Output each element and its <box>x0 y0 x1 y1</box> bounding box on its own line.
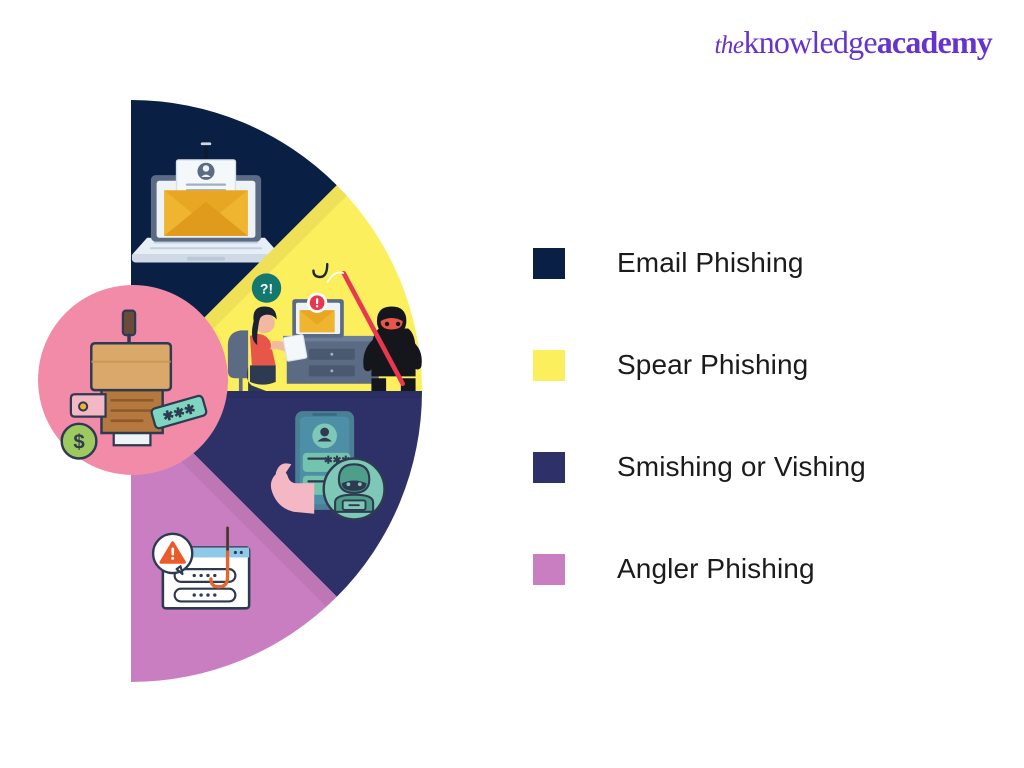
pie-chart-svg: ?! <box>0 0 520 768</box>
legend-swatch-angler-phishing <box>533 554 565 585</box>
legend-label-spear-phishing: Spear Phishing <box>617 349 808 381</box>
center-badge: ✱✱✱ $ <box>38 285 228 475</box>
legend-swatch-spear-phishing <box>533 350 565 381</box>
legend-item-email-phishing[interactable]: Email Phishing <box>533 212 973 314</box>
legend-label-email-phishing: Email Phishing <box>617 247 804 279</box>
logo-academy: academy <box>877 24 992 60</box>
logo-knowledge: knowledge <box>744 24 877 60</box>
legend-swatch-smishing-vishing <box>533 452 565 483</box>
legend-item-spear-phishing[interactable]: Spear Phishing <box>533 314 973 416</box>
pie-chart-area: ?! <box>0 0 520 768</box>
logo-the: the <box>714 32 743 59</box>
brand-logo: theknowledgeacademy <box>714 26 992 58</box>
legend-item-angler-phishing[interactable]: Angler Phishing <box>533 518 973 620</box>
svg-text:$: $ <box>73 431 85 453</box>
legend-item-smishing-vishing[interactable]: Smishing or Vishing <box>533 416 973 518</box>
svg-text:?!: ?! <box>260 282 273 297</box>
legend-label-smishing-vishing: Smishing or Vishing <box>617 451 866 483</box>
legend-swatch-email-phishing <box>533 248 565 279</box>
legend-label-angler-phishing: Angler Phishing <box>617 553 815 585</box>
chart-legend: Email Phishing Spear Phishing Smishing o… <box>533 212 973 620</box>
